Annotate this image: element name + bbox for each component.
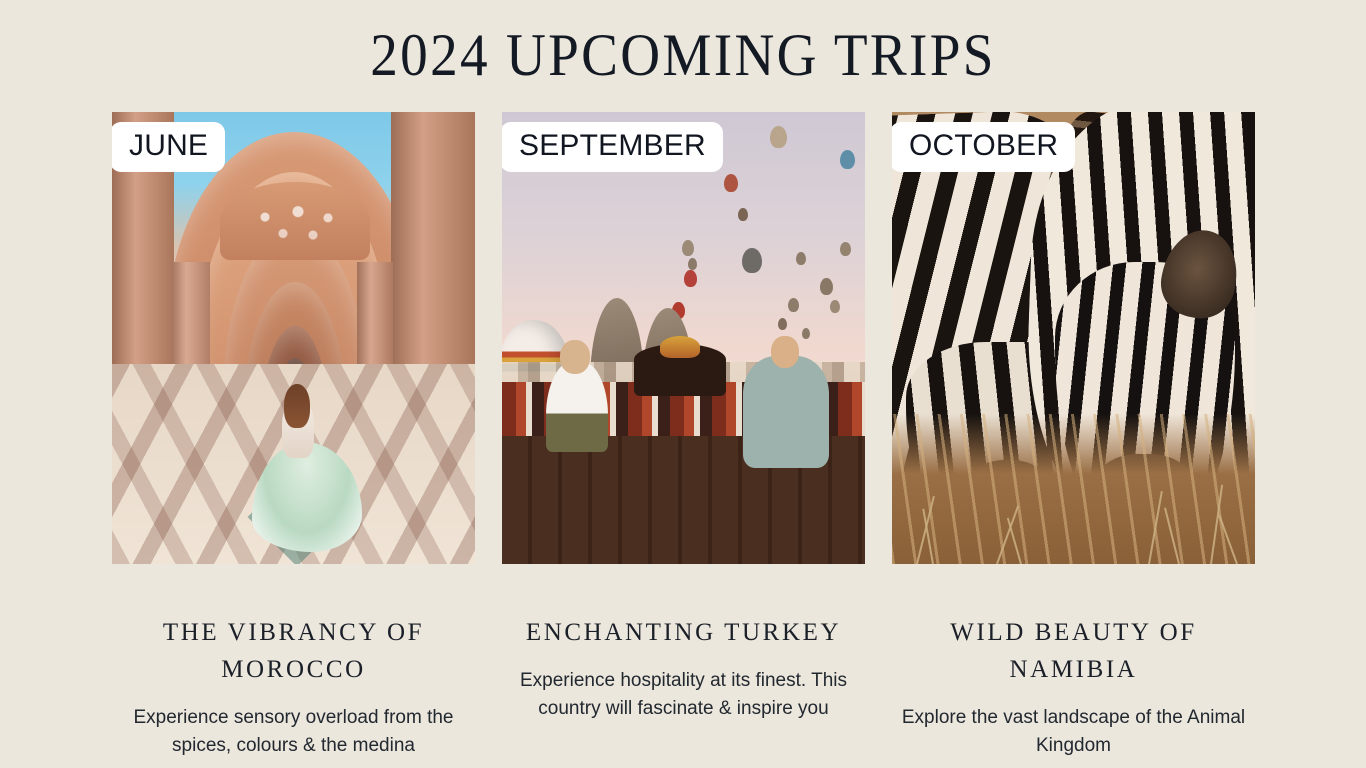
balloon — [682, 240, 694, 256]
person-woman — [743, 356, 829, 468]
month-badge-october: OCTOBER — [892, 122, 1075, 172]
fruit-bowl — [660, 336, 700, 358]
month-badge-june: JUNE — [112, 122, 225, 172]
month-badge-september: SEPTEMBER — [502, 122, 723, 172]
savanna-ground — [892, 414, 1255, 564]
balloon — [840, 150, 855, 169]
poster: 2024 UPCOMING TRIPS — [0, 0, 1366, 768]
balloon — [738, 208, 748, 221]
page-title: 2024 UPCOMING TRIPS — [55, 22, 1312, 88]
balloon — [742, 248, 762, 273]
trip-body-turkey: Experience hospitality at its finest. Th… — [502, 667, 865, 723]
balloon — [788, 298, 799, 312]
trip-body-namibia: Explore the vast landscape of the Animal… — [892, 704, 1255, 760]
balloon — [796, 252, 806, 265]
trip-body-morocco: Experience sensory overload from the spi… — [112, 704, 475, 760]
trip-photo-namibia: OCTOBER — [892, 112, 1255, 564]
balloon — [840, 242, 851, 256]
trip-heading-morocco: THE VIBRANCY OF MOROCCO — [112, 614, 475, 688]
balloon — [802, 328, 810, 339]
balloon — [684, 270, 697, 287]
person-woman-head — [771, 336, 799, 368]
balloon — [770, 126, 787, 148]
trip-card-grid: JUNE THE VIBRANCY OF MOROCCO Experience … — [112, 112, 1254, 760]
balloon — [778, 318, 787, 330]
arch-ornament — [220, 182, 370, 260]
trip-card-morocco[interactable]: JUNE THE VIBRANCY OF MOROCCO Experience … — [112, 112, 475, 760]
balloon — [820, 278, 833, 295]
trip-photo-turkey: SEPTEMBER — [502, 112, 865, 564]
balloon — [688, 258, 697, 270]
figure-hair — [284, 384, 310, 428]
trip-card-namibia[interactable]: OCTOBER WILD BEAUTY OF NAMIBIA Explore t… — [892, 112, 1255, 760]
balloon — [724, 174, 738, 192]
trip-heading-namibia: WILD BEAUTY OF NAMIBIA — [892, 614, 1255, 688]
balloon — [830, 300, 840, 313]
person-man-head — [560, 340, 590, 374]
trip-card-turkey[interactable]: SEPTEMBER ENCHANTING TURKEY Experience h… — [502, 112, 865, 760]
trip-heading-turkey: ENCHANTING TURKEY — [502, 614, 865, 651]
trip-photo-morocco: JUNE — [112, 112, 475, 564]
